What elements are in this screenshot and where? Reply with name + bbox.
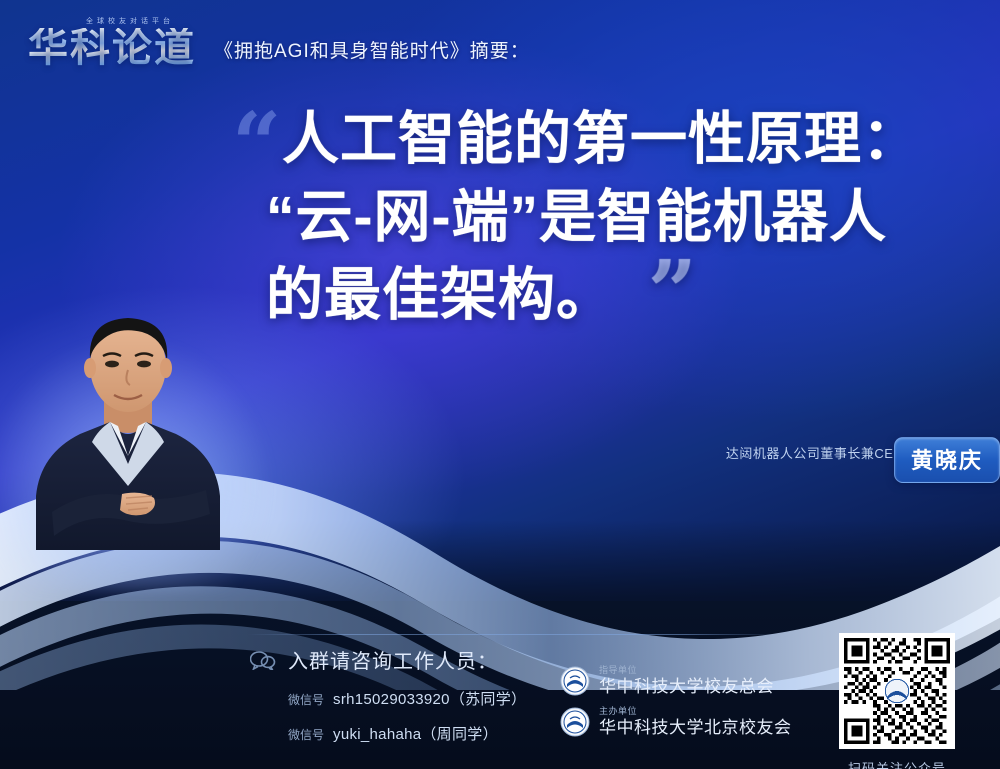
speaker-attribution: 达闼机器人公司董事长兼CEO 黄晓庆 [726, 443, 904, 462]
open-quote-icon: “ [232, 102, 281, 188]
speaker-role: 达闼机器人公司董事长兼CEO [726, 443, 904, 462]
footer-title: 入群请咨询工作人员： [288, 645, 498, 674]
poster-canvas: 全球校友对话平台 华科论道 《拥抱AGI和具身智能时代》摘要： “ 人工智能的第… [0, 0, 1000, 769]
wechat-id: yuki_hahaha（周同学） [333, 723, 498, 744]
header: 全球校友对话平台 华科论道 《拥抱AGI和具身智能时代》摘要： [28, 16, 530, 68]
quote-line-2: “云-网-端”是智能机器人 [232, 178, 972, 256]
organizer-text: 指导单位 华中科技大学校友总会 [599, 666, 774, 695]
organizer-item: 指导单位 华中科技大学校友总会 [560, 666, 792, 696]
quote-line-1: 人工智能的第一性原理： [232, 100, 972, 178]
brand-logo: 全球校友对话平台 华科论道 [28, 16, 196, 68]
wechat-id: srh15029033920（苏同学） [333, 688, 526, 709]
qr-code[interactable] [839, 633, 955, 749]
footer-divider [248, 634, 782, 635]
organizer-name: 华中科技大学校友总会 [599, 678, 774, 696]
logo-text: 华科论道 [28, 28, 196, 68]
quote-block: “ 人工智能的第一性原理： “云-网-端”是智能机器人 的最佳架构。 ” [232, 100, 972, 334]
organizer-name: 华中科技大学北京校友会 [599, 719, 792, 737]
logo-tagline: 全球校友对话平台 [28, 16, 196, 26]
speaker-name-badge: 黄晓庆 [894, 437, 1000, 483]
qr-caption: 扫码关注公众号 [839, 758, 955, 769]
wechat-bubbles-icon [250, 650, 276, 670]
organizer-kind: 指导单位 [599, 666, 774, 675]
university-seal-icon [560, 707, 590, 737]
speaker-portrait [18, 300, 238, 550]
organizer-item: 主办单位 华中科技大学北京校友会 [560, 707, 792, 737]
qr-code-image [844, 638, 950, 744]
qr-section: 扫码关注公众号 [839, 633, 955, 769]
wechat-label: 微信号 [288, 691, 324, 708]
page-title: 《拥抱AGI和具身智能时代》摘要： [214, 36, 530, 68]
quote-line-3: 的最佳架构。 [266, 263, 614, 327]
organizer-text: 主办单位 华中科技大学北京校友会 [599, 707, 792, 736]
organizer-kind: 主办单位 [599, 707, 792, 716]
university-seal-icon [560, 666, 590, 696]
organizer-list: 指导单位 华中科技大学校友总会 主办单位 华中科技大学北京校友会 [560, 666, 792, 748]
quote-line-3-wrap: 的最佳架构。 ” [232, 256, 614, 334]
wechat-label: 微信号 [288, 726, 324, 743]
close-quote-icon: ” [648, 250, 698, 336]
